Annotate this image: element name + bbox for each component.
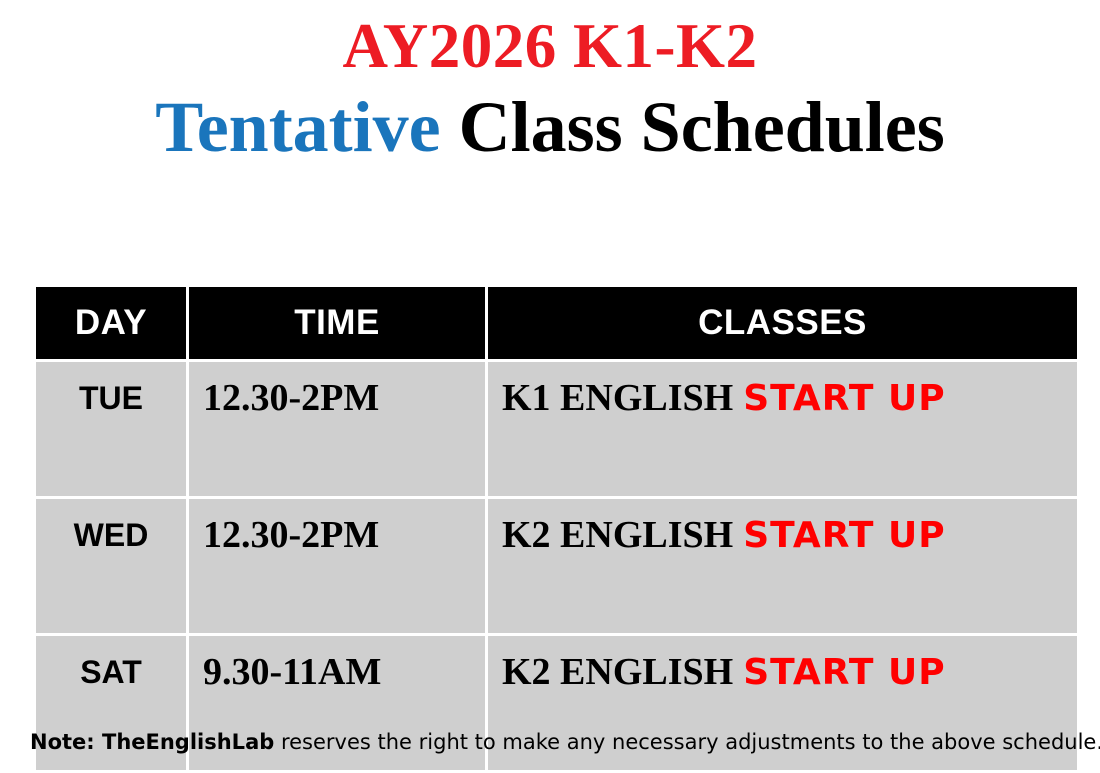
table-row: WED 12.30-2PM K2 ENGLISHSTART UP bbox=[36, 499, 1077, 633]
table-header-row: DAY TIME CLASSES bbox=[36, 287, 1077, 359]
cell-time: 12.30-2PM bbox=[189, 362, 485, 496]
cell-classes: K1 ENGLISHSTART UP bbox=[488, 362, 1077, 496]
cell-time: 12.30-2PM bbox=[189, 499, 485, 633]
footer-note-label: Note: TheEnglishLab bbox=[30, 730, 274, 754]
class-name-text: K2 ENGLISH bbox=[502, 651, 733, 693]
schedule-table: DAY TIME CLASSES TUE 12.30-2PM K1 ENGLIS… bbox=[33, 284, 1080, 773]
class-startup-tag: START UP bbox=[743, 652, 945, 693]
column-header-classes: CLASSES bbox=[488, 287, 1077, 359]
class-name-text: K2 ENGLISH bbox=[502, 514, 733, 556]
table-body: TUE 12.30-2PM K1 ENGLISHSTART UP WED 12.… bbox=[36, 362, 1077, 770]
class-startup-tag: START UP bbox=[743, 378, 945, 419]
title-class-schedules-words: Class Schedules bbox=[441, 87, 945, 167]
schedule-table-wrapper: DAY TIME CLASSES TUE 12.30-2PM K1 ENGLIS… bbox=[36, 287, 1071, 770]
title-block: AY2026 K1-K2 Tentative Class Schedules bbox=[0, 0, 1100, 170]
title-tentative-word: Tentative bbox=[155, 87, 440, 167]
footer-note-text: reserves the right to make any necessary… bbox=[274, 730, 1100, 754]
footer-note: Note: TheEnglishLab reserves the right t… bbox=[30, 728, 1075, 756]
column-header-day: DAY bbox=[36, 287, 186, 359]
cell-day: TUE bbox=[36, 362, 186, 496]
class-startup-tag: START UP bbox=[743, 515, 945, 556]
class-name-text: K1 ENGLISH bbox=[502, 377, 733, 419]
page-title-line-1: AY2026 K1-K2 bbox=[0, 8, 1100, 84]
cell-classes: K2 ENGLISHSTART UP bbox=[488, 499, 1077, 633]
column-header-time: TIME bbox=[189, 287, 485, 359]
table-row: TUE 12.30-2PM K1 ENGLISHSTART UP bbox=[36, 362, 1077, 496]
page-title-line-2: Tentative Class Schedules bbox=[0, 84, 1100, 170]
table-header: DAY TIME CLASSES bbox=[36, 287, 1077, 359]
cell-day: WED bbox=[36, 499, 186, 633]
